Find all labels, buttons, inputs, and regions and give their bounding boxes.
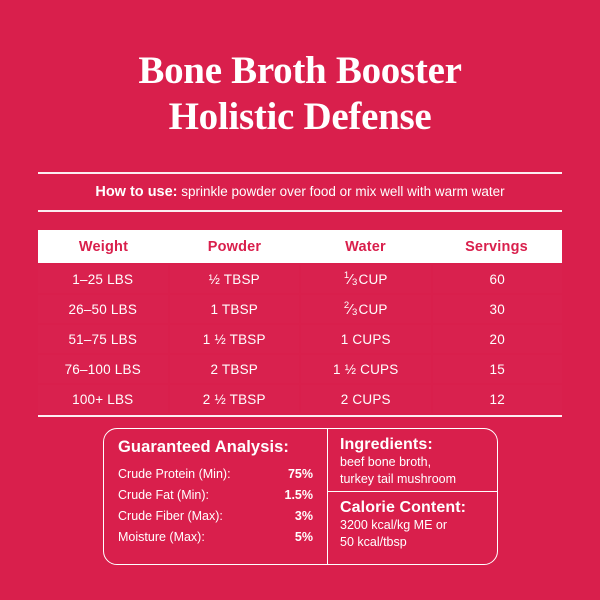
analysis-value: 5% — [295, 527, 313, 548]
analysis-value: 3% — [295, 506, 313, 527]
fraction: 1⁄3 — [344, 271, 358, 288]
table-row: 1–25 LBS½ TBSP1⁄3 CUP60 — [38, 265, 562, 293]
guaranteed-analysis-row: Crude Fiber (Max):3% — [118, 506, 313, 527]
analysis-value: 1.5% — [285, 485, 314, 506]
how-to-use-label: How to use: — [95, 184, 177, 200]
cell-water: 1 ½ CUPS — [301, 355, 431, 383]
table-row: 100+ LBS2 ½ TBSP2 CUPS12 — [38, 385, 562, 413]
analysis-label: Crude Protein (Min): — [118, 464, 231, 485]
product-label: Bone Broth Booster Holistic Defense How … — [0, 0, 600, 600]
analysis-label: Crude Fiber (Max): — [118, 506, 223, 527]
column-header-water: Water — [300, 239, 431, 255]
calorie-content-heading: Calorie Content: — [340, 499, 487, 517]
ingredients-body: beef bone broth, turkey tail mushroom — [340, 454, 487, 488]
cell-powder: 1 ½ TBSP — [170, 325, 300, 353]
how-to-use-instruction: sprinkle powder over food or mix well wi… — [178, 184, 505, 199]
ingredients-line-2: turkey tail mushroom — [340, 471, 487, 488]
how-to-use-text: How to use: sprinkle powder over food or… — [38, 174, 562, 210]
guaranteed-analysis-section: Guaranteed Analysis: Crude Protein (Min)… — [104, 429, 328, 564]
cell-servings: 30 — [433, 295, 563, 323]
panel-right-column: Ingredients: beef bone broth, turkey tai… — [328, 429, 497, 564]
ingredients-line-1: beef bone broth, — [340, 454, 487, 471]
calorie-content-line-2: 50 kcal/tbsp — [340, 534, 487, 551]
divider-rule-top — [38, 172, 562, 174]
cell-powder: ½ TBSP — [170, 265, 300, 293]
cell-servings: 20 — [433, 325, 563, 353]
table-bottom-rule — [38, 415, 562, 417]
table-row: 26–50 LBS1 TBSP2⁄3 CUP30 — [38, 295, 562, 323]
cell-servings: 12 — [433, 385, 563, 413]
cell-water: 2⁄3 CUP — [301, 295, 431, 323]
cell-powder: 1 TBSP — [170, 295, 300, 323]
guaranteed-analysis-row: Crude Protein (Min):75% — [118, 464, 313, 485]
table-header-row: Weight Powder Water Servings — [38, 230, 562, 263]
analysis-label: Crude Fat (Min): — [118, 485, 209, 506]
title-line-2: Holistic Defense — [0, 94, 600, 140]
cell-weight: 26–50 LBS — [38, 295, 168, 323]
cell-powder: 2 TBSP — [170, 355, 300, 383]
calorie-content-line-1: 3200 kcal/kg ME or — [340, 517, 487, 534]
page-title: Bone Broth Booster Holistic Defense — [0, 48, 600, 140]
cell-servings: 15 — [433, 355, 563, 383]
cell-water: 2 CUPS — [301, 385, 431, 413]
cell-weight: 1–25 LBS — [38, 265, 168, 293]
guaranteed-analysis-row: Crude Fat (Min):1.5% — [118, 485, 313, 506]
column-header-powder: Powder — [169, 239, 300, 255]
column-header-weight: Weight — [38, 239, 169, 255]
nutrition-panel: Guaranteed Analysis: Crude Protein (Min)… — [103, 428, 498, 565]
analysis-label: Moisture (Max): — [118, 527, 205, 548]
title-line-1: Bone Broth Booster — [0, 48, 600, 94]
table-row: 51–75 LBS1 ½ TBSP1 CUPS20 — [38, 325, 562, 353]
calorie-content-body: 3200 kcal/kg ME or 50 kcal/tbsp — [340, 517, 487, 551]
cell-weight: 100+ LBS — [38, 385, 168, 413]
cell-water: 1 CUPS — [301, 325, 431, 353]
guaranteed-analysis-heading: Guaranteed Analysis: — [118, 438, 313, 457]
ingredients-heading: Ingredients: — [340, 436, 487, 454]
feeding-guide-table: Weight Powder Water Servings 1–25 LBS½ T… — [38, 230, 562, 417]
analysis-value: 75% — [288, 464, 313, 485]
column-header-servings: Servings — [431, 239, 562, 255]
table-row: 76–100 LBS2 TBSP1 ½ CUPS15 — [38, 355, 562, 383]
fraction: 2⁄3 — [344, 301, 358, 318]
cell-weight: 51–75 LBS — [38, 325, 168, 353]
how-to-use-section: How to use: sprinkle powder over food or… — [38, 172, 562, 212]
cell-weight: 76–100 LBS — [38, 355, 168, 383]
cell-servings: 60 — [433, 265, 563, 293]
table-body: 1–25 LBS½ TBSP1⁄3 CUP6026–50 LBS1 TBSP2⁄… — [38, 265, 562, 413]
guaranteed-analysis-row: Moisture (Max):5% — [118, 527, 313, 548]
cell-water: 1⁄3 CUP — [301, 265, 431, 293]
divider-rule-bottom — [38, 210, 562, 212]
calorie-content-section: Calorie Content: 3200 kcal/kg ME or 50 k… — [328, 491, 497, 551]
guaranteed-analysis-rows: Crude Protein (Min):75%Crude Fat (Min):1… — [118, 464, 313, 548]
ingredients-section: Ingredients: beef bone broth, turkey tai… — [328, 429, 497, 488]
cell-powder: 2 ½ TBSP — [170, 385, 300, 413]
